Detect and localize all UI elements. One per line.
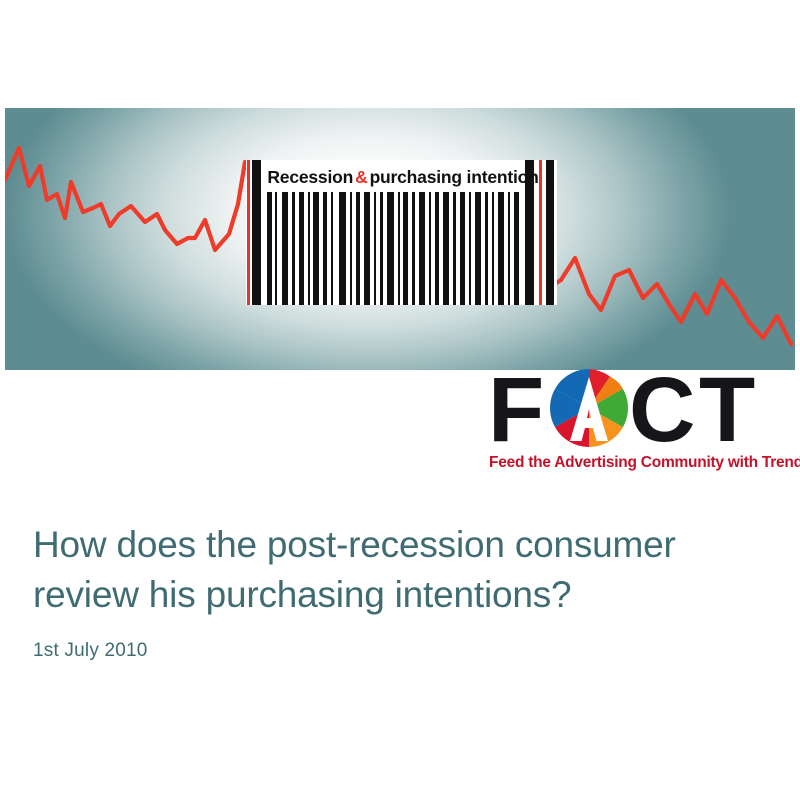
title-block: How does the post-recession consumer rev… [33, 520, 763, 662]
logo-letter-t: T [699, 364, 752, 456]
barcode-graphic: Recession & purchasing intention [246, 160, 557, 305]
slide-root: Recession & purchasing intention F [0, 0, 800, 800]
barcode-guard-left [247, 160, 250, 305]
barcode-caption: Recession & purchasing intention [267, 164, 539, 190]
colorwheel-a-icon [550, 369, 628, 447]
page-title-line-1: How does the post-recession consumer [33, 524, 676, 565]
slide-date: 1st July 2010 [33, 640, 763, 662]
fact-logo: F [488, 368, 796, 478]
logo-letter-c: C [629, 364, 692, 456]
barcode-guard-right [539, 160, 542, 305]
barcode-caption-suffix: purchasing intention [370, 167, 539, 188]
barcode-caption-ampersand: & [353, 167, 369, 188]
barcode-caption-prefix: Recession [267, 167, 353, 188]
page-title-line-2: review his purchasing intentions? [33, 570, 763, 620]
fact-logo-mark: F [488, 368, 796, 454]
page-title: How does the post-recession consumer rev… [33, 520, 763, 620]
hero-banner: Recession & purchasing intention [5, 108, 795, 370]
logo-tagline: Feed the Advertising Community with Tren… [489, 454, 800, 472]
logo-letter-a-icon [550, 369, 628, 447]
logo-letter-f: F [488, 364, 541, 456]
trend-line-left [5, 148, 245, 250]
